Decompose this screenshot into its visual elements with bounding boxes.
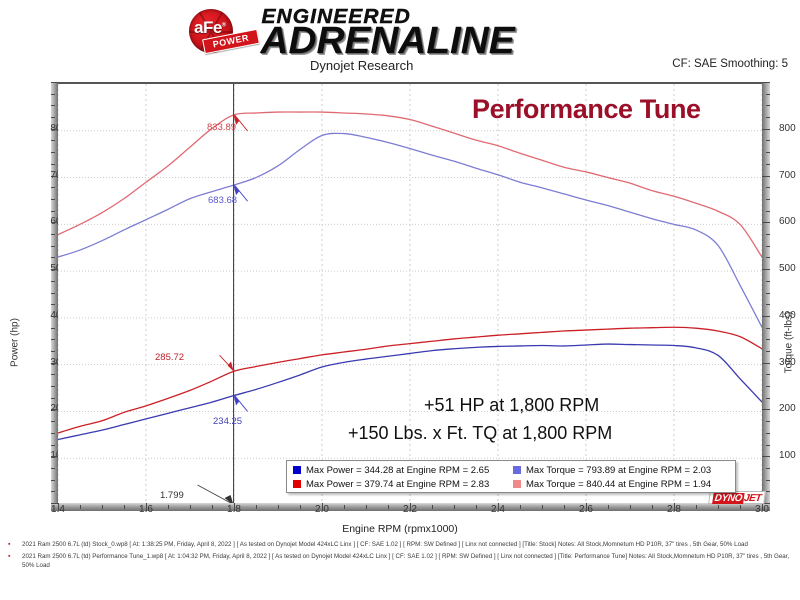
ruler-tick (762, 82, 770, 83)
ruler-tick (51, 351, 55, 352)
ruler-tick (58, 503, 59, 511)
brand-block: aFe® POWER ENGINEERED ADRENALINE (185, 4, 605, 56)
ruler-tick (51, 328, 55, 329)
y-tick-right-100: 100 (779, 450, 800, 461)
ruler-tick (51, 374, 55, 375)
ruler-tick (766, 234, 770, 235)
ruler-tick (766, 199, 770, 200)
ruler-tick (366, 505, 367, 509)
ruler-tick (51, 257, 55, 258)
ruler-tick (51, 339, 55, 340)
ruler-tick (168, 505, 169, 509)
ruler-tick (51, 398, 55, 399)
ruler-tick (51, 246, 55, 247)
ruler-tick (762, 129, 770, 130)
ruler-tick (766, 445, 770, 446)
ruler-tick (766, 293, 770, 294)
ruler-tick (278, 505, 279, 509)
y-tick-right-500: 500 (779, 263, 800, 274)
ruler-tick (762, 503, 763, 511)
ruler-tick (51, 117, 55, 118)
ruler-tick (51, 445, 55, 446)
ruler-tick (498, 503, 499, 511)
ruler-tick (454, 505, 455, 509)
header-banner: aFe® POWER ENGINEERED ADRENALINE Dynojet… (0, 0, 800, 78)
ruler-tick (762, 456, 770, 457)
ruler-tick (212, 505, 213, 509)
ruler-tick (766, 421, 770, 422)
y-tick-right-300: 300 (779, 357, 800, 368)
legend-label: Max Power = 344.28 at Engine RPM = 2.65 (306, 465, 489, 476)
cursor-rpm-label: 1.799 (160, 490, 184, 501)
ruler-tick (51, 105, 55, 106)
ruler-tick (190, 505, 191, 509)
ruler-tick (652, 505, 653, 509)
ruler-tick (51, 421, 55, 422)
power-stock-value-label: 234.25 (213, 416, 242, 427)
ruler-tick (674, 503, 675, 511)
ruler-tick (51, 468, 55, 469)
cf-smoothing-label: CF: SAE Smoothing: 5 (672, 58, 788, 70)
legend-entry-right-1: Max Torque = 793.89 at Engine RPM = 2.03 (511, 465, 731, 476)
torque-tuned-value-label: 833.89 (207, 122, 236, 133)
legend-entry-left-2: Max Power = 379.74 at Engine RPM = 2.83 (291, 479, 511, 490)
ruler-tick (766, 433, 770, 434)
y-tick-right-400: 400 (779, 310, 800, 321)
legend-label: Max Torque = 793.89 at Engine RPM = 2.03 (526, 465, 711, 476)
torque-stock-value-label: 683.68 (208, 195, 237, 206)
adrenaline-wordmark: ADRENALINE (261, 22, 515, 60)
ruler-tick (766, 117, 770, 118)
ruler-tick (762, 409, 770, 410)
ruler-tick (696, 505, 697, 509)
afe-power-logo-icon: aFe® POWER (185, 8, 259, 54)
dynojet-research-subtitle: Dynojet Research (310, 58, 413, 73)
ruler-tick (718, 505, 719, 509)
ruler-tick (608, 505, 609, 509)
ruler-tick (542, 505, 543, 509)
ruler-tick (766, 257, 770, 258)
ruler-tick (388, 505, 389, 509)
legend-label: Max Power = 379.74 at Engine RPM = 2.83 (306, 479, 489, 490)
ruler-tick (766, 480, 770, 481)
ruler-tick (740, 505, 741, 509)
ruler-tick (146, 503, 147, 511)
ruler-tick (51, 234, 55, 235)
y-tick-right-200: 200 (779, 403, 800, 414)
ruler-tick (51, 304, 55, 305)
footnote-1: ▪2021 Ram 2500 6.7L (td) Stock_0.wp8 [ A… (0, 540, 800, 549)
ruler-tick (51, 281, 55, 282)
ruler-tick (766, 164, 770, 165)
footnote-bullet-icon: ▪ (8, 540, 10, 549)
footnote-text: 2021 Ram 2500 6.7L (td) Stock_0.wp8 [ At… (22, 541, 748, 548)
y-axis-left-label: Power (hp) (10, 308, 21, 378)
ruler-tick (300, 505, 301, 509)
ruler-tick (51, 199, 55, 200)
y-tick-right-700: 700 (779, 170, 800, 181)
ruler-tick (51, 491, 55, 492)
footnote-text: 2021 Ram 2500 6.7L (td) Performance Tune… (22, 553, 789, 569)
ruler-tick (766, 105, 770, 106)
legend-swatch (293, 480, 301, 488)
footnote-2: ▪2021 Ram 2500 6.7L (td) Performance Tun… (0, 552, 800, 570)
ruler-tick (520, 505, 521, 509)
ruler-tick (322, 503, 323, 511)
ruler-tick (476, 505, 477, 509)
ruler-tick (630, 505, 631, 509)
ruler-tick (51, 164, 55, 165)
ruler-tick (766, 187, 770, 188)
legend-swatch (513, 480, 521, 488)
ruler-tick (762, 316, 770, 317)
ruler-tick (762, 269, 770, 270)
ruler-tick (762, 222, 770, 223)
gain-tq-annotation: +150 Lbs. x Ft. TQ at 1,800 RPM (348, 423, 612, 444)
ruler-tick (51, 187, 55, 188)
annotation-arrow (228, 361, 234, 371)
dyno-chart: Power (hp) Torque (ft-lbs) Engine RPM (r… (0, 82, 800, 537)
legend-entry-right-2: Max Torque = 840.44 at Engine RPM = 1.94 (511, 479, 731, 490)
ruler-tick (51, 433, 55, 434)
ruler-tick (766, 246, 770, 247)
dynojet-badge-jet: JET (743, 493, 762, 504)
afe-wordmark-text: aFe (194, 18, 222, 37)
ruler-tick (564, 505, 565, 509)
ruler-tick (51, 211, 55, 212)
chart-legend: Max Power = 344.28 at Engine RPM = 2.65M… (286, 460, 736, 493)
legend-swatch (513, 466, 521, 474)
ruler-tick (762, 176, 770, 177)
ruler-tick (766, 386, 770, 387)
legend-entry-left-1: Max Power = 344.28 at Engine RPM = 2.65 (291, 465, 511, 476)
performance-tune-title: Performance Tune (472, 94, 701, 125)
ruler-tick (586, 503, 587, 511)
ruler-tick (766, 374, 770, 375)
ruler-tick (766, 140, 770, 141)
ruler-tick (766, 304, 770, 305)
gain-hp-annotation: +51 HP at 1,800 RPM (424, 395, 599, 416)
ruler-tick (256, 505, 257, 509)
ruler-tick (432, 505, 433, 509)
ruler-tick (51, 140, 55, 141)
ruler-tick (766, 398, 770, 399)
ruler-tick (766, 351, 770, 352)
ruler-tick (766, 491, 770, 492)
ruler-tick (51, 152, 55, 153)
ruler-tick (766, 94, 770, 95)
ruler-tick (762, 363, 770, 364)
ruler-tick (410, 503, 411, 511)
ruler-tick (766, 152, 770, 153)
dynojet-badge-dyno: DYNO (712, 493, 745, 504)
y-tick-right-600: 600 (779, 216, 800, 227)
footnote-bullet-icon: ▪ (8, 552, 10, 561)
legend-row: Max Power = 344.28 at Engine RPM = 2.65M… (291, 463, 731, 477)
footnotes: ▪2021 Ram 2500 6.7L (td) Stock_0.wp8 [ A… (0, 540, 800, 600)
y-tick-right-800: 800 (779, 123, 800, 134)
power-tuned-value-label: 285.72 (155, 352, 184, 363)
cursor-leader (198, 485, 233, 503)
ruler-tick (766, 211, 770, 212)
legend-row: Max Power = 379.74 at Engine RPM = 2.83M… (291, 477, 731, 491)
ruler-tick (766, 468, 770, 469)
legend-swatch (293, 466, 301, 474)
legend-label: Max Torque = 840.44 at Engine RPM = 1.94 (526, 479, 711, 490)
ruler-tick (102, 505, 103, 509)
ruler-tick (344, 505, 345, 509)
ruler-tick (80, 505, 81, 509)
x-axis-label: Engine RPM (rpmx1000) (0, 523, 800, 535)
ruler-tick (51, 480, 55, 481)
ruler-tick (51, 94, 55, 95)
ruler-tick (124, 505, 125, 509)
ruler-tick (51, 293, 55, 294)
ruler-tick (51, 386, 55, 387)
ruler-tick (234, 503, 235, 511)
ruler-tick (766, 281, 770, 282)
afe-registered-mark: ® (222, 22, 226, 28)
ruler-tick (766, 339, 770, 340)
ruler-tick (766, 328, 770, 329)
